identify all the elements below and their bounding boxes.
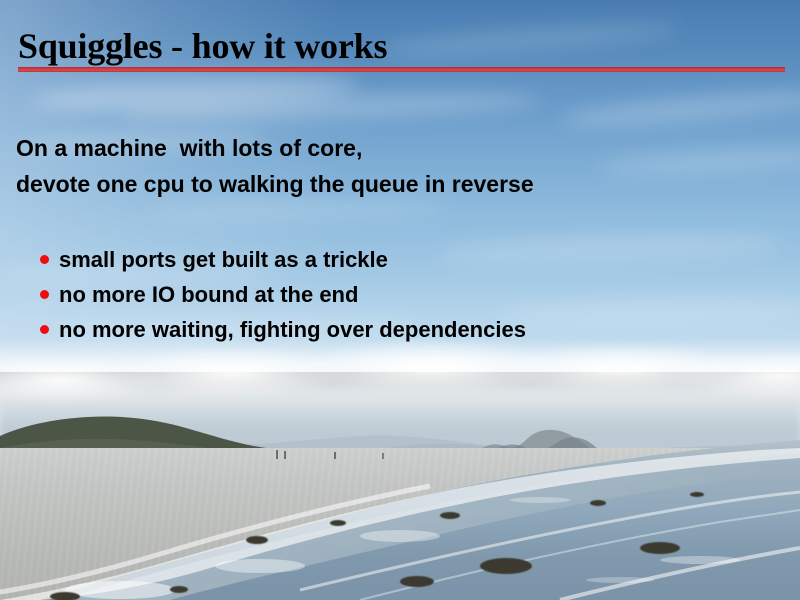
bullet-item-label: small ports get built as a trickle — [59, 247, 388, 273]
kelp-clump — [690, 492, 704, 497]
bullet-list-item: no more IO bound at the end — [38, 277, 778, 312]
kelp-clump — [590, 500, 606, 506]
slide-title: Squiggles - how it works — [18, 26, 387, 66]
kelp-clump — [480, 558, 532, 574]
title-underline-rule — [18, 67, 785, 72]
body-line: devote one cpu to walking the queue in r… — [16, 166, 776, 202]
kelp-clump — [440, 512, 460, 519]
kelp-clump — [50, 592, 80, 600]
bullet-list: small ports get built as a trickle no mo… — [38, 242, 778, 347]
bullet-list-item: no more waiting, fighting over dependenc… — [38, 312, 778, 347]
shoreline-foam — [0, 440, 800, 600]
bullet-dot-icon — [40, 255, 49, 264]
bullet-dot-icon — [40, 290, 49, 299]
kelp-clump — [246, 536, 268, 544]
bullet-item-label: no more IO bound at the end — [59, 282, 358, 308]
body-text-block: On a machine with lots of core, devote o… — [16, 130, 776, 202]
kelp-clump — [640, 542, 680, 554]
kelp-clump — [330, 520, 346, 526]
kelp-clump — [170, 586, 188, 593]
bullet-dot-icon — [40, 325, 49, 334]
bullet-list-item: small ports get built as a trickle — [38, 242, 778, 277]
bullet-item-label: no more waiting, fighting over dependenc… — [59, 317, 526, 343]
kelp-clump — [400, 576, 434, 587]
body-line: On a machine with lots of core, — [16, 130, 776, 166]
presentation-slide: Squiggles - how it works On a machine wi… — [0, 0, 800, 600]
distant-figures — [270, 446, 410, 464]
